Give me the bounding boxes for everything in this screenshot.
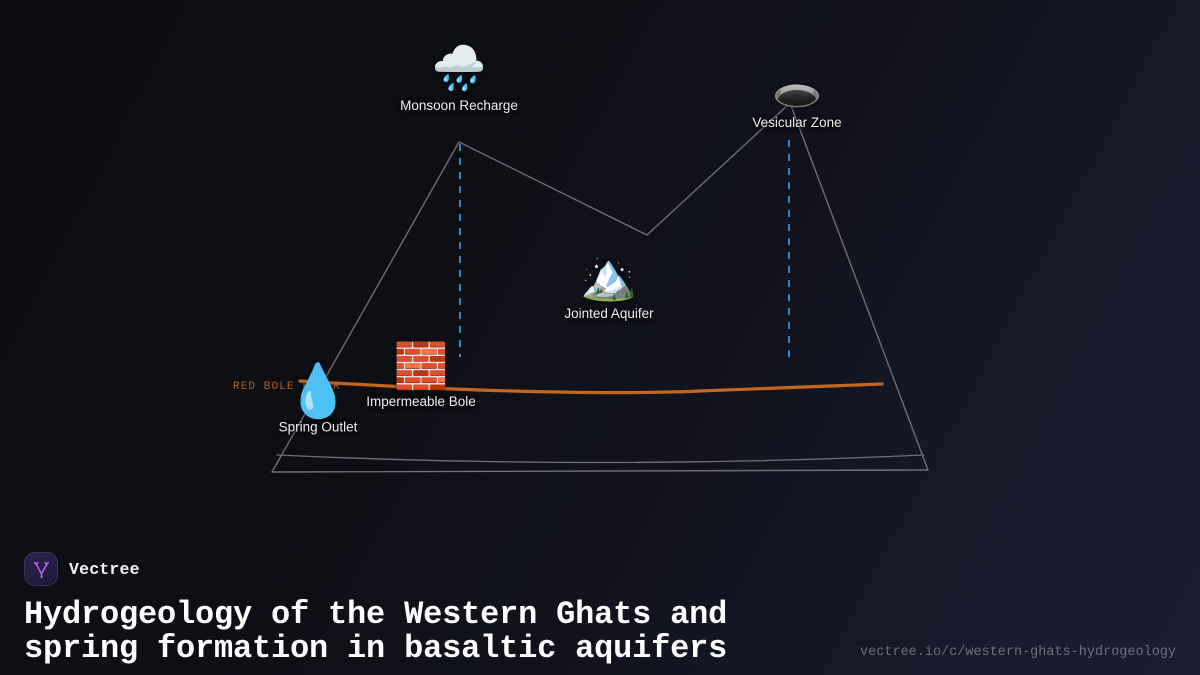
brand-name: Vectree xyxy=(69,560,140,579)
diagram-node-impermeable-bole[interactable]: 🧱 Impermeable Bole xyxy=(366,345,476,409)
diagram-node-label: Vesicular Zone xyxy=(752,115,841,130)
diagram-node-label: Spring Outlet xyxy=(279,420,358,435)
title-row: Hydrogeology of the Western Ghats and sp… xyxy=(24,598,1176,666)
page-title: Hydrogeology of the Western Ghats and sp… xyxy=(24,598,839,666)
diagram-node-label: Monsoon Recharge xyxy=(400,98,518,113)
brick-wall-icon: 🧱 xyxy=(394,345,449,389)
page-url: vectree.io/c/western-ghats-hydrogeology xyxy=(860,645,1176,666)
diagram-node-label: Jointed Aquifer xyxy=(564,306,653,321)
diagram-node-vesicular-zone[interactable]: 🕳️ Vesicular Zone xyxy=(752,70,841,130)
diagram-node-label: Impermeable Bole xyxy=(366,394,476,409)
mountain-icon: 🏔️ xyxy=(580,253,637,299)
diagram-node-jointed-aquifer[interactable]: 🏔️ Jointed Aquifer xyxy=(564,253,653,321)
diagram-node-spring-outlet[interactable]: 💧 Spring Outlet xyxy=(279,366,358,435)
water-droplet-icon: 💧 xyxy=(286,366,351,418)
footer: Vectree Hydrogeology of the Western Ghat… xyxy=(0,530,1200,675)
brand-row: Vectree xyxy=(24,552,1176,586)
diagram-node-monsoon-recharge[interactable]: 🌧️ Monsoon Recharge xyxy=(400,47,518,113)
vectree-tree-logo-icon xyxy=(24,552,58,586)
rain-cloud-icon: 🌧️ xyxy=(432,47,487,91)
basement-contact-line xyxy=(277,455,924,463)
hole-icon: 🕳️ xyxy=(772,70,822,110)
